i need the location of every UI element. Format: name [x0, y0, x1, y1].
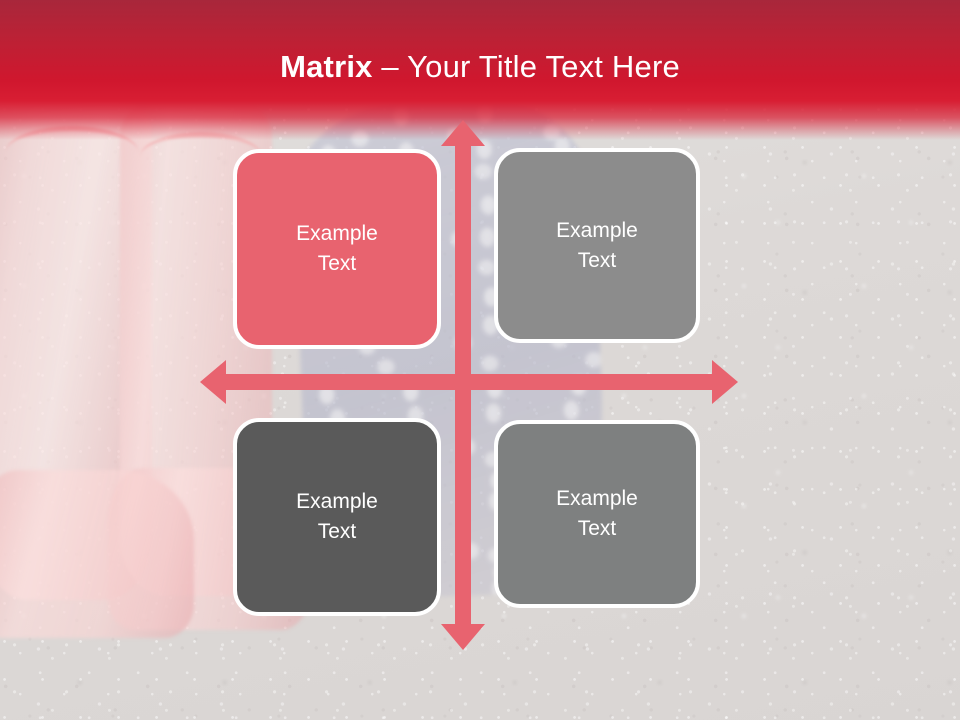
quadrant-label-bottom-right-line1: Example	[556, 487, 638, 510]
quadrant-box-top-right[interactable]: ExampleText	[494, 148, 700, 343]
arrow-up-icon	[441, 120, 485, 146]
quadrant-label-bottom-left: ExampleText	[296, 487, 378, 547]
quadrant-label-bottom-right-line2: Text	[578, 517, 617, 540]
quadrant-label-top-right-line1: Example	[556, 219, 638, 242]
quadrant-label-top-left: ExampleText	[296, 219, 378, 279]
quadrant-box-bottom-right[interactable]: ExampleText	[494, 420, 700, 608]
page-title: Matrix – Your Title Text Here	[0, 48, 960, 86]
quadrant-label-top-right-line2: Text	[578, 249, 617, 272]
quadrant-label-top-left-line2: Text	[318, 252, 357, 275]
quadrant-label-top-right: ExampleText	[556, 216, 638, 276]
arrow-down-icon	[441, 624, 485, 650]
slide-canvas: Matrix – Your Title Text Here ExampleTex…	[0, 0, 960, 720]
quadrant-box-top-left[interactable]: ExampleText	[233, 149, 441, 349]
quadrant-label-bottom-right: ExampleText	[556, 484, 638, 544]
quadrant-box-bottom-left[interactable]: ExampleText	[233, 418, 441, 616]
arrow-left-icon	[200, 360, 226, 404]
page-title-bold: Matrix	[280, 49, 373, 84]
arrow-right-icon	[712, 360, 738, 404]
quadrant-label-top-left-line1: Example	[296, 222, 378, 245]
quadrant-label-bottom-left-line2: Text	[318, 520, 357, 543]
page-title-rest: – Your Title Text Here	[373, 49, 680, 84]
vertical-axis-shaft	[455, 134, 471, 636]
quadrant-label-bottom-left-line1: Example	[296, 490, 378, 513]
